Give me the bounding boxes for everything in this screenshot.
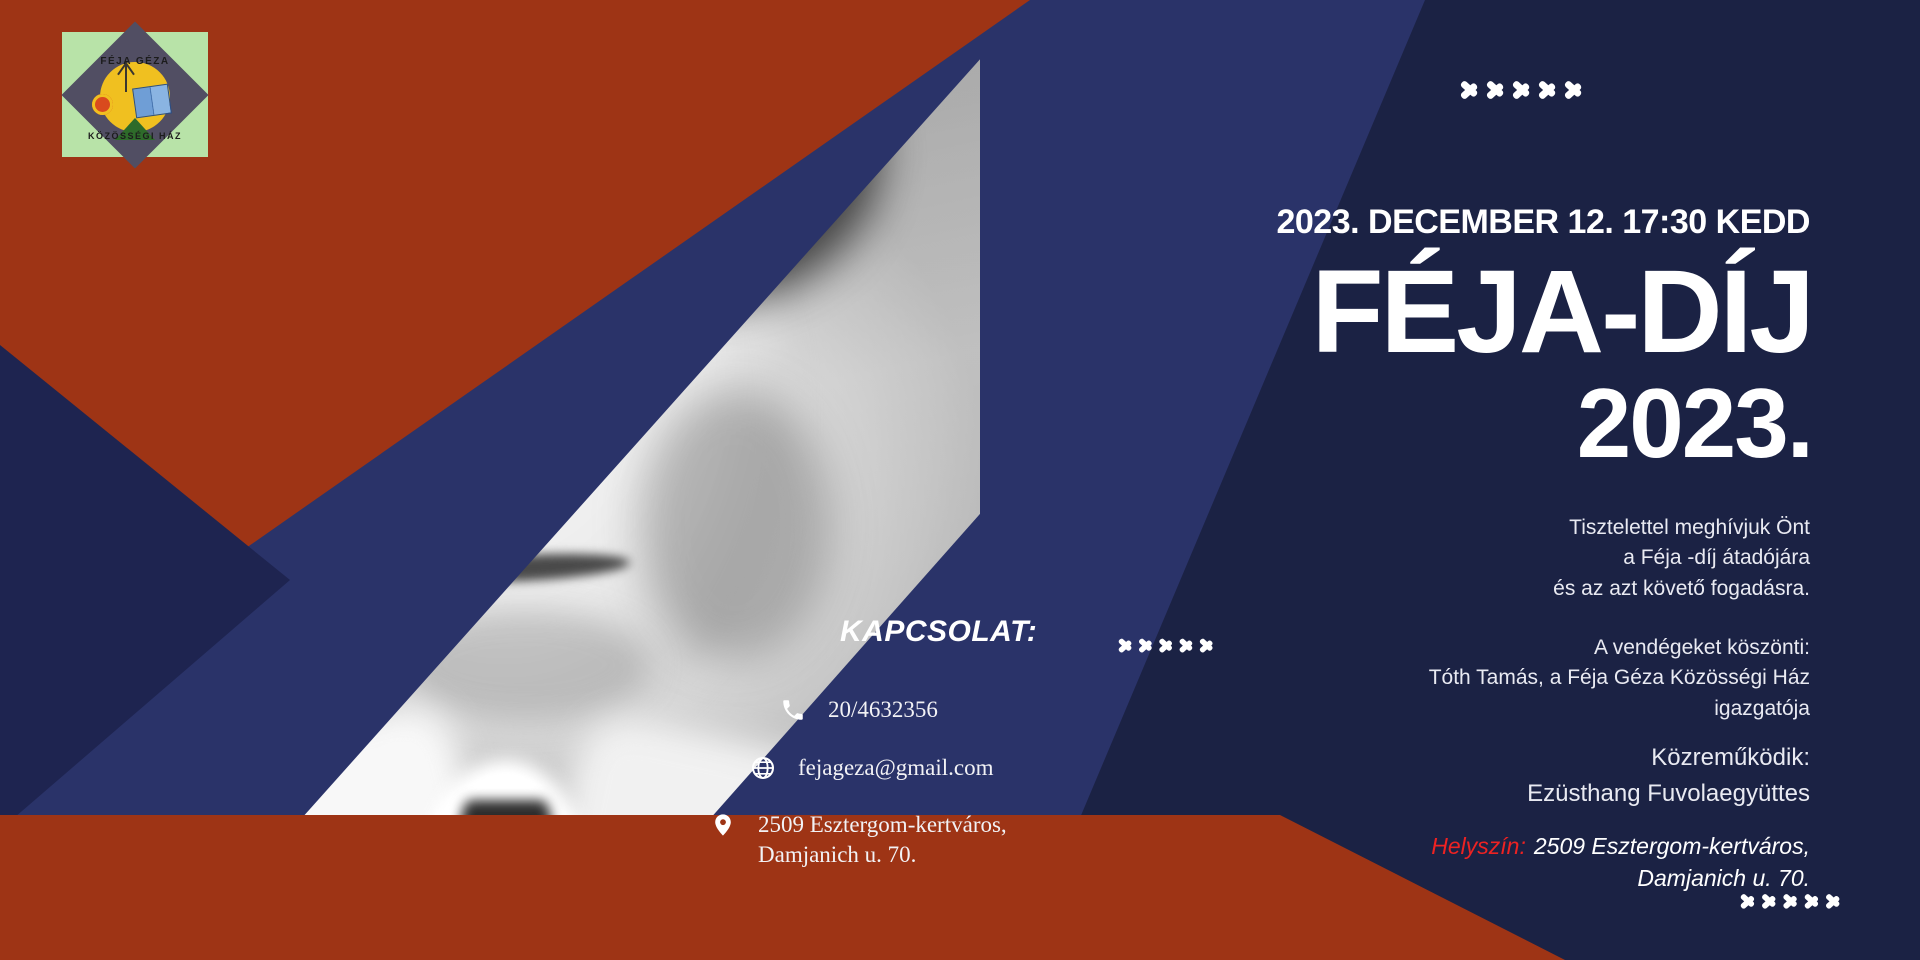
event-year: 2023. <box>1577 378 1812 468</box>
contact-row-address[interactable]: 2509 Esztergom-kertváros, Damjanich u. 7… <box>710 810 1007 870</box>
venue-line: Helyszín:2509 Esztergom-kertváros, Damja… <box>1250 830 1810 894</box>
event-poster: FÉJA GÉZA KÖZÖSSÉGI HÁZ 2023. DECEMBER 1… <box>0 0 1920 960</box>
logo-text-top: FÉJA GÉZA <box>62 56 208 67</box>
contact-address-value: 2509 Esztergom-kertváros, Damjanich u. 7… <box>758 810 1007 870</box>
logo-text-bottom: KÖZÖSSÉGI HÁZ <box>62 131 208 141</box>
contact-row-phone[interactable]: 20/4632356 <box>780 695 938 725</box>
venue-value: 2509 Esztergom-kertváros, Damjanich u. 7… <box>1534 833 1810 891</box>
performers-text: Közreműködik: Ezüsthang Fuvolaegyüttes <box>1290 740 1810 812</box>
logo-wheel-icon <box>92 94 113 115</box>
page-title: FÉJA-DÍJ <box>1311 258 1812 367</box>
invitation-text: Tisztelettel meghívjuk Önt a Féja -díj á… <box>1290 513 1810 604</box>
logo-book-icon <box>132 84 172 119</box>
contact-heading: KAPCSOLAT: <box>840 615 1037 649</box>
phone-icon <box>780 697 806 723</box>
host-text: A vendégeket köszönti: Tóth Tamás, a Féj… <box>1290 633 1810 724</box>
chevron-right-icon <box>1118 630 1135 661</box>
organization-logo: FÉJA GÉZA KÖZÖSSÉGI HÁZ <box>62 32 208 157</box>
event-date: 2023. DECEMBER 12. 17:30 KEDD <box>1276 203 1810 242</box>
contact-phone-value: 20/4632356 <box>828 695 938 725</box>
contact-row-email[interactable]: fejageza@gmail.com <box>750 753 994 783</box>
globe-icon <box>750 755 776 781</box>
event-info-column: 2023. DECEMBER 12. 17:30 KEDD FÉJA-DÍJ 2… <box>1150 0 1850 960</box>
venue-label: Helyszín: <box>1431 833 1526 859</box>
location-pin-icon <box>710 812 736 838</box>
contact-email-value: fejageza@gmail.com <box>798 753 994 783</box>
photo-cheek <box>640 390 830 660</box>
